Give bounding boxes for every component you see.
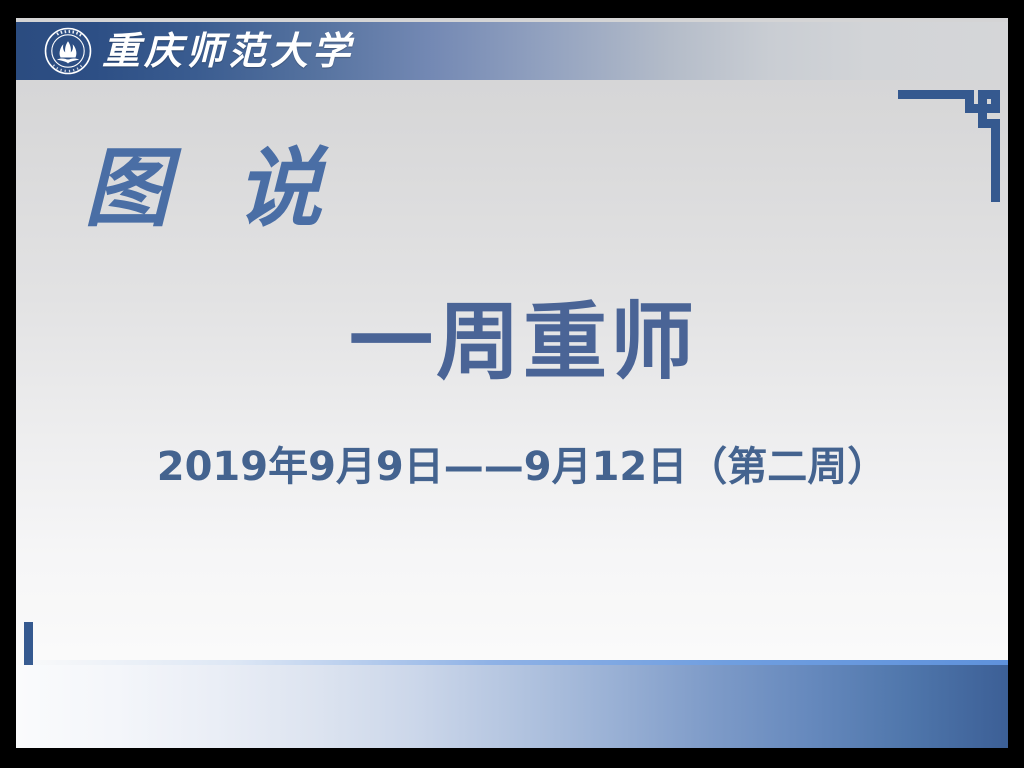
header-band: 重庆师范大学 xyxy=(16,22,1008,80)
bottom-band xyxy=(16,660,1008,748)
brush-title: 图 说 xyxy=(84,146,340,232)
date-subtitle: 2019年9月9日——9月12日（第二周） xyxy=(16,443,1008,491)
bottom-band-fill xyxy=(16,665,1008,748)
slide-root: 重庆师范大学 xyxy=(0,0,1024,768)
slide-canvas: 重庆师范大学 xyxy=(16,18,1008,748)
university-seal-icon xyxy=(44,27,92,75)
corner-bracket-ornament-icon-top-right xyxy=(890,82,1006,210)
school-name-text: 重庆师范大学 xyxy=(102,24,354,78)
page-title: 一周重师 xyxy=(16,298,1008,386)
